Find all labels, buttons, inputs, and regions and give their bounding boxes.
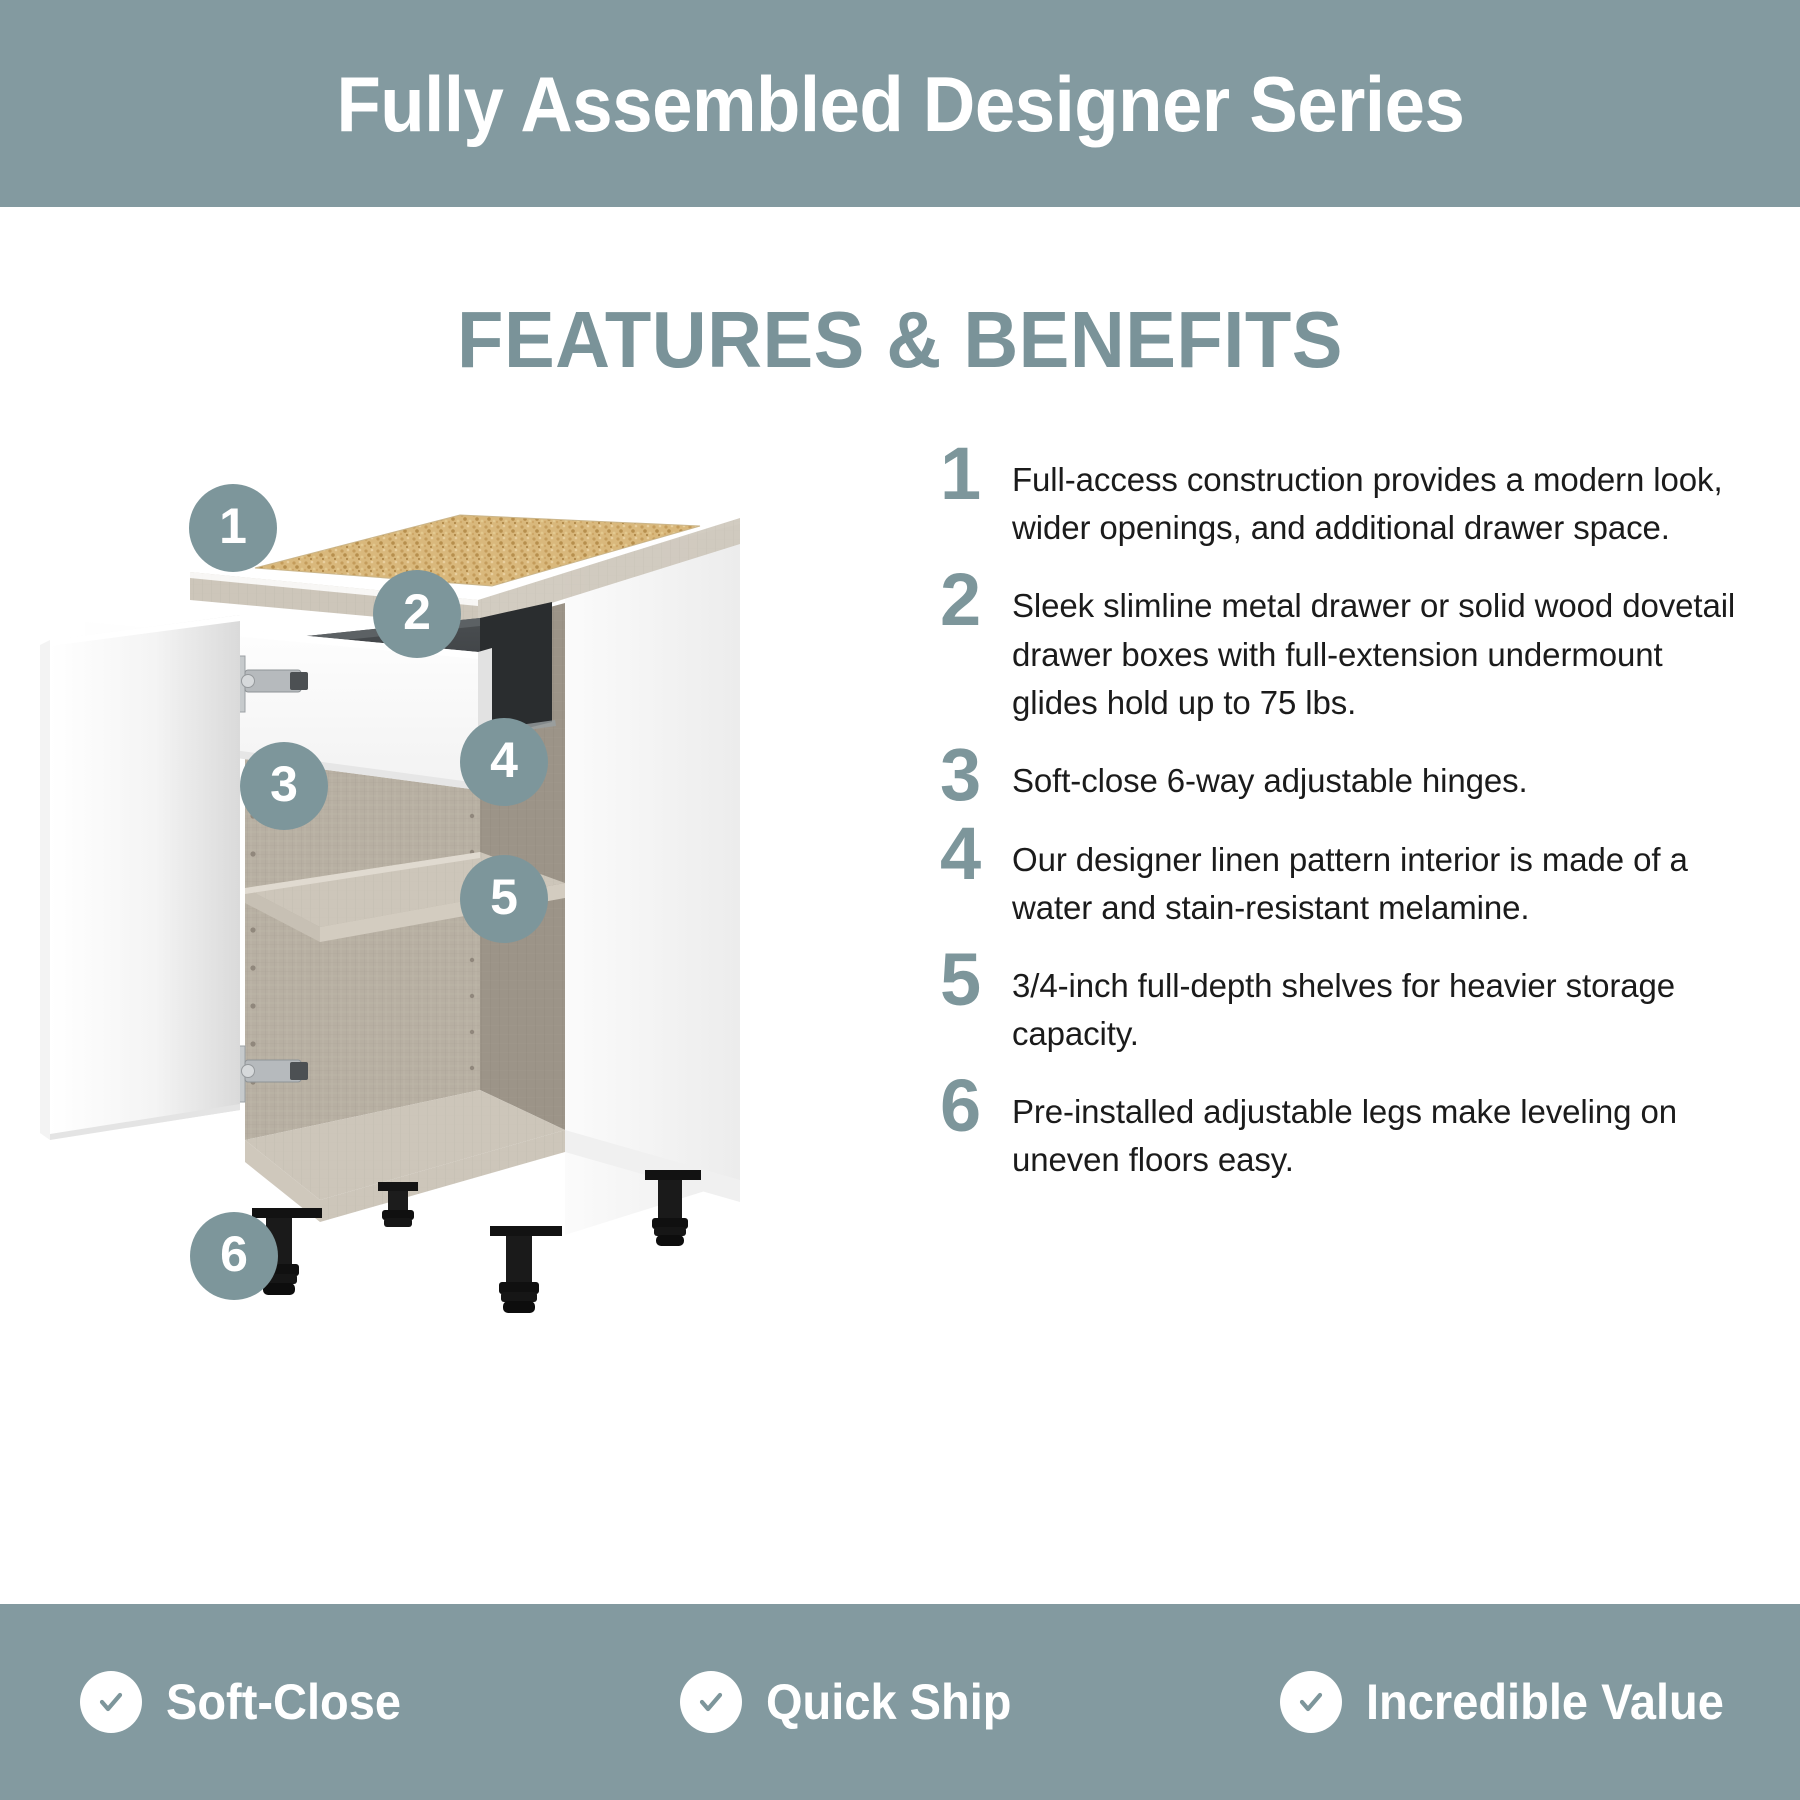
page-title: Fully Assembled Designer Series <box>336 65 1464 143</box>
header-bar: Fully Assembled Designer Series <box>0 0 1800 207</box>
main-content: 1 2 3 4 5 6 1 Full-access construction p… <box>0 400 1800 1580</box>
footer-badge-soft-close: Soft-Close <box>0 1671 600 1733</box>
footer-badge-quick-ship: Quick Ship <box>600 1671 1200 1733</box>
footer-badge-label: Quick Ship <box>766 1677 1012 1727</box>
adjustable-leg <box>378 1182 418 1227</box>
cabinet-door <box>40 615 240 1140</box>
callout-badge-3: 3 <box>240 742 328 830</box>
callout-badge-4: 4 <box>460 718 548 806</box>
feature-text: Soft-close 6-way adjustable hinges. <box>1012 743 1740 805</box>
cabinet-side-panel <box>565 518 740 1235</box>
callout-badge-6: 6 <box>190 1212 278 1300</box>
cabinet-diagram <box>40 440 890 1500</box>
feature-item: 2 Sleek slimline metal drawer or solid w… <box>940 568 1740 727</box>
feature-text: Pre-installed adjustable legs make level… <box>1012 1074 1740 1184</box>
check-icon <box>680 1671 742 1733</box>
feature-number: 2 <box>940 568 1012 631</box>
feature-item: 6 Pre-installed adjustable legs make lev… <box>940 1074 1740 1184</box>
feature-number: 3 <box>940 743 1012 806</box>
feature-text: Sleek slimline metal drawer or solid woo… <box>1012 568 1740 727</box>
footer-badge-label: Soft-Close <box>166 1677 401 1727</box>
adjustable-leg <box>490 1226 562 1313</box>
footer-bar: Soft-Close Quick Ship Incredible Value <box>0 1604 1800 1800</box>
features-list: 1 Full-access construction provides a mo… <box>940 442 1740 1201</box>
feature-item: 3 Soft-close 6-way adjustable hinges. <box>940 743 1740 806</box>
check-icon <box>80 1671 142 1733</box>
callout-badge-2: 2 <box>373 570 461 658</box>
feature-text: Full-access construction provides a mode… <box>1012 442 1740 552</box>
feature-number: 4 <box>940 822 1012 885</box>
callout-badge-5: 5 <box>460 855 548 943</box>
feature-item: 5 3/4-inch full-depth shelves for heavie… <box>940 948 1740 1058</box>
feature-text: Our designer linen pattern interior is m… <box>1012 822 1740 932</box>
check-icon <box>1280 1671 1342 1733</box>
callout-badge-1: 1 <box>189 484 277 572</box>
feature-number: 1 <box>940 442 1012 505</box>
feature-item: 1 Full-access construction provides a mo… <box>940 442 1740 552</box>
feature-number: 6 <box>940 1074 1012 1137</box>
feature-item: 4 Our designer linen pattern interior is… <box>940 822 1740 932</box>
section-title: FEATURES & BENEFITS <box>45 300 1755 380</box>
footer-badge-label: Incredible Value <box>1366 1677 1724 1727</box>
feature-number: 5 <box>940 948 1012 1011</box>
product-illustration: 1 2 3 4 5 6 <box>40 440 890 1500</box>
footer-badge-incredible-value: Incredible Value <box>1200 1671 1800 1733</box>
feature-text: 3/4-inch full-depth shelves for heavier … <box>1012 948 1740 1058</box>
